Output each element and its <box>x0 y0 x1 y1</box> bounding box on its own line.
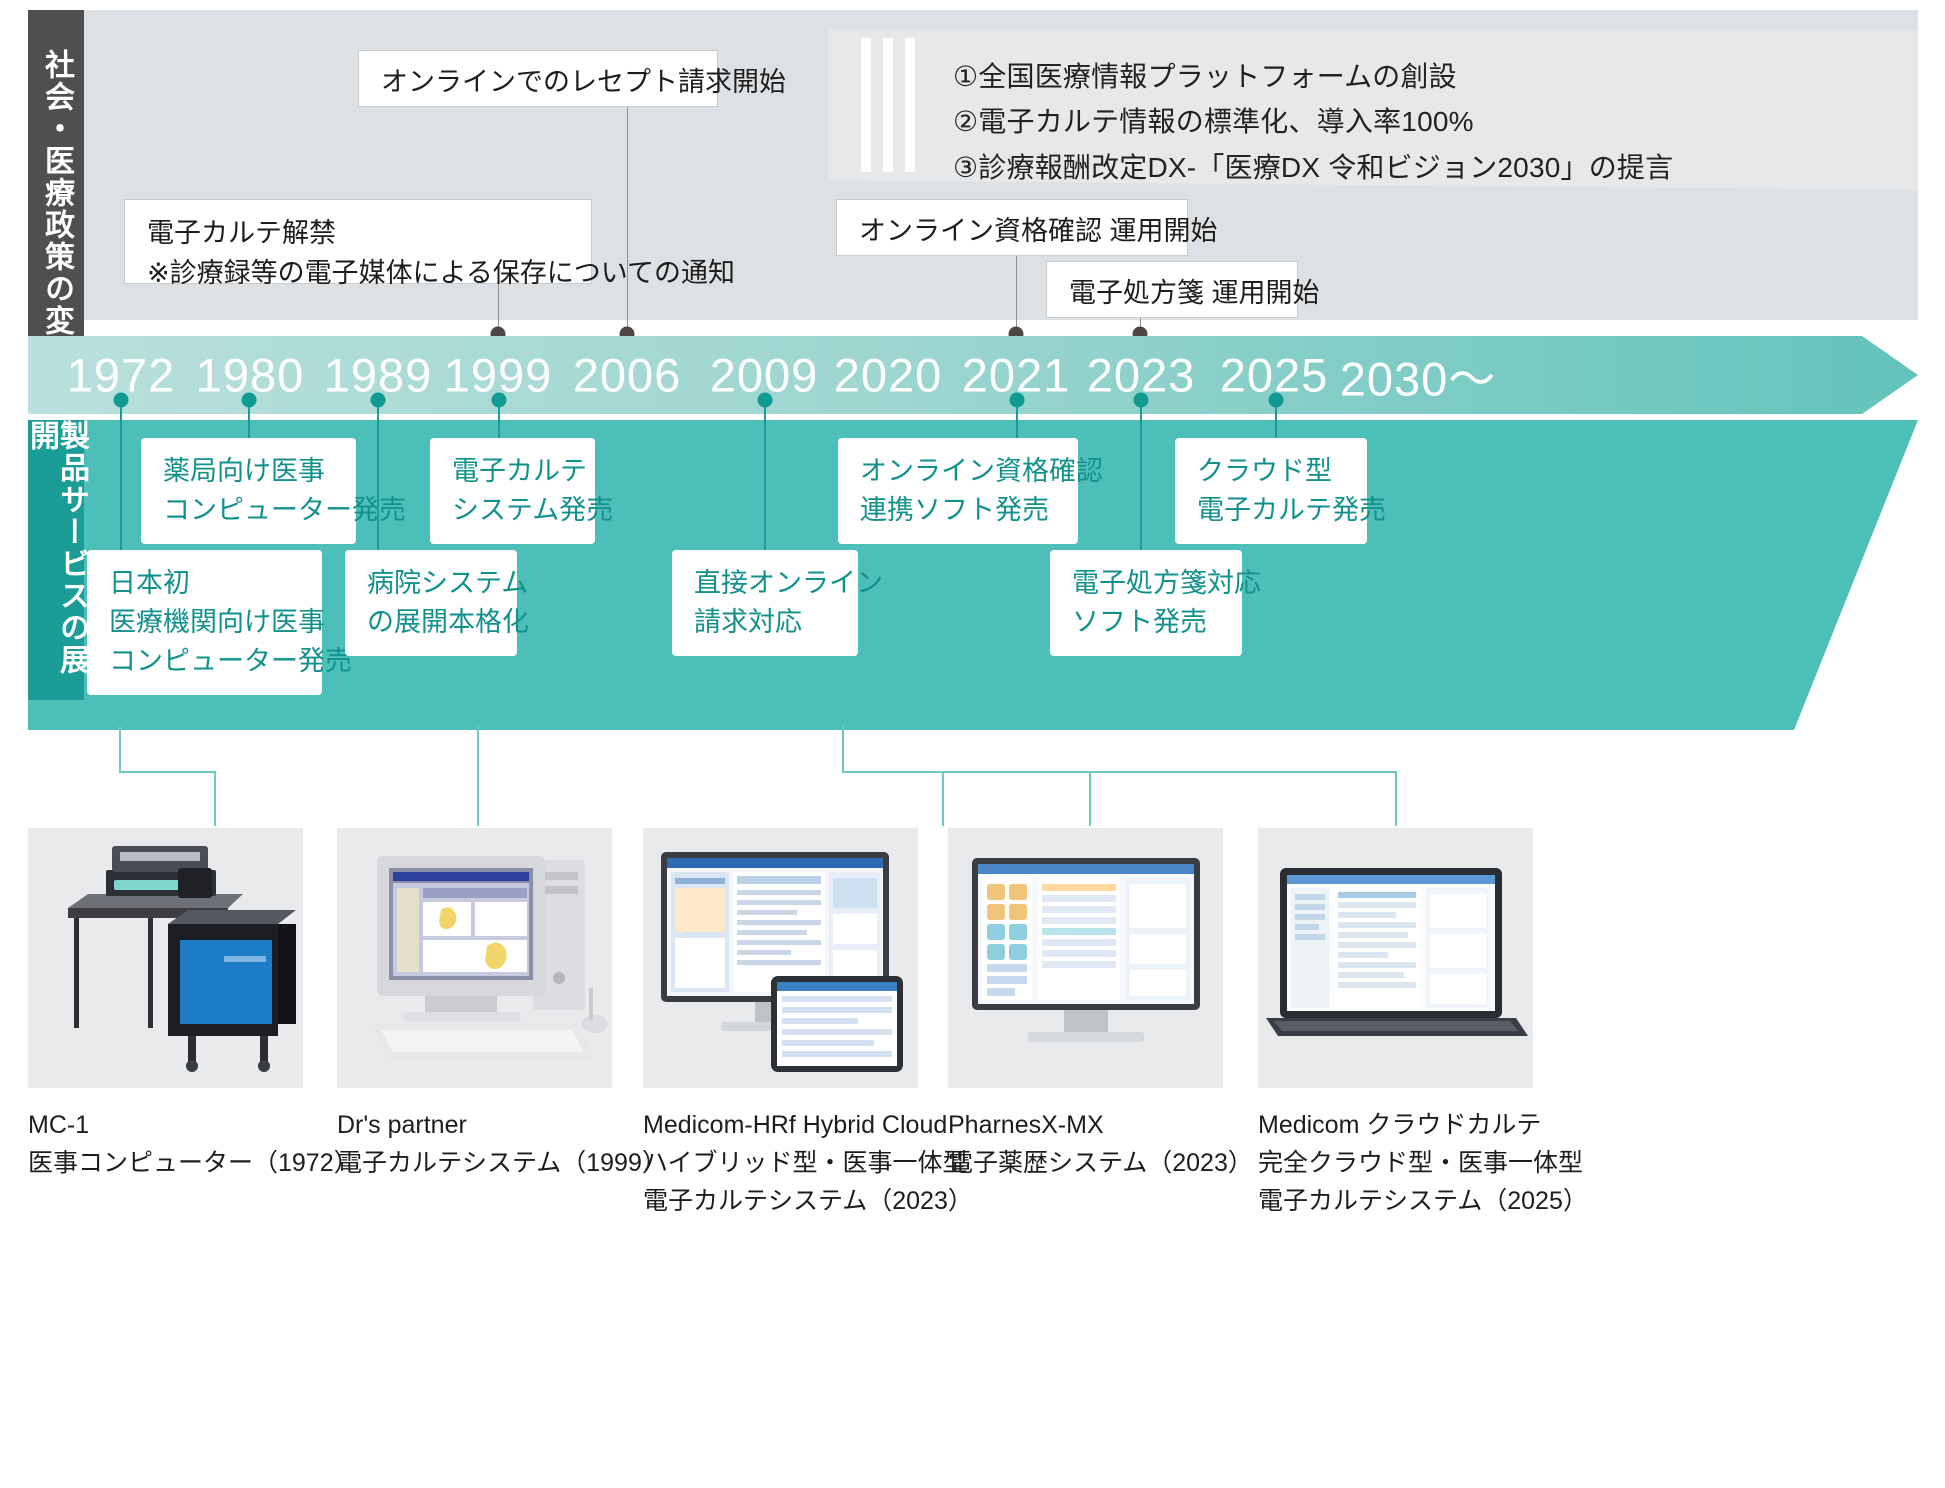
year-label-2020: 2020 <box>834 348 943 403</box>
policy-item-2: ②電子カルテ情報の標準化、導入率100% <box>953 99 1673 144</box>
product-callout-eprescription-soft-line-1: 電子処方箋対応 <box>1072 564 1220 603</box>
product-photo-drs-partner <box>337 828 612 1088</box>
product-photo-medicom-hrf <box>643 828 918 1088</box>
product-photo-row: MC-1 医事コンピューター（1972） <box>0 828 1945 1488</box>
product-callout-online-qualify-link: オンライン資格確認 連携ソフト発売 <box>838 438 1078 544</box>
product-card-medicom-hrf[interactable]: Medicom-HRf Hybrid Cloud ハイブリッド型・医事一体型 電… <box>643 828 918 1220</box>
product-caption-medicom-cloud: Medicom クラウドカルテ 完全クラウド型・医事一体型 電子カルテシステム（… <box>1258 1106 1533 1220</box>
policy-callout-eprescription-line-1: 電子処方箋 運用開始 <box>1069 278 1320 308</box>
connector-to-pharnesx <box>843 772 1090 826</box>
product-caption-drs-partner-line-2: 電子カルテシステム（1999） <box>337 1144 612 1182</box>
product-leader-2009 <box>764 404 766 550</box>
product-callout-japan-first-line-2: 医療機関向け医事 <box>109 603 300 642</box>
product-card-pharnesx-mx[interactable]: PharnesX-MX 電子薬歴システム（2023） <box>948 828 1223 1182</box>
policy-callout-emr-permitted-line-2: ※診療録等の電子媒体による保存についての通知 <box>147 254 569 294</box>
product-caption-mc-1: MC-1 医事コンピューター（1972） <box>28 1106 303 1182</box>
stripe-3 <box>905 38 915 172</box>
product-dot-1989 <box>371 393 386 408</box>
product-dot-2025 <box>1269 393 1284 408</box>
product-leader-2023 <box>1140 404 1142 550</box>
policy-item-1: ①全国医療情報プラットフォームの創設 <box>953 54 1673 99</box>
product-caption-pharnesx-mx-line-2: 電子薬歴システム（2023） <box>948 1144 1223 1182</box>
product-caption-mc-1-line-2: 医事コンピューター（1972） <box>28 1144 303 1182</box>
product-dot-1999 <box>492 393 507 408</box>
product-dot-2023 <box>1134 393 1149 408</box>
policy-callout-online-receipt-line-1: オンラインでのレセプト請求開始 <box>381 67 786 97</box>
year-label-2030: 2030〜 <box>1340 341 1497 410</box>
product-leader-2021 <box>1016 404 1018 438</box>
product-photo-pharnesx-mx <box>948 828 1223 1088</box>
policy-callout-emr-permitted-line-1: 電子カルテ解禁 <box>147 214 569 254</box>
product-caption-pharnesx-mx: PharnesX-MX 電子薬歴システム（2023） <box>948 1106 1223 1182</box>
photo-connector-lines <box>0 726 1945 836</box>
policy-item-list: ①全国医療情報プラットフォームの創設 ②電子カルテ情報の標準化、導入率100% … <box>953 54 1673 190</box>
product-dot-2009 <box>758 393 773 408</box>
product-caption-mc-1-line-1: MC-1 <box>28 1106 303 1144</box>
product-section-vertical-label: 製品サービスの展開 <box>28 420 84 700</box>
policy-item-3: ③診療報酬改定DX-「医療DX 令和ビジョン2030」の提言 <box>953 145 1673 190</box>
product-caption-medicom-cloud-line-3: 電子カルテシステム（2025） <box>1258 1182 1533 1220</box>
product-caption-medicom-cloud-line-1: Medicom クラウドカルテ <box>1258 1106 1533 1144</box>
product-photo-medicom-cloud <box>1258 828 1533 1088</box>
product-caption-medicom-cloud-line-2: 完全クラウド型・医事一体型 <box>1258 1144 1533 1182</box>
stripe-2 <box>883 38 893 172</box>
connector-to-mc-1 <box>120 726 215 826</box>
product-card-mc-1[interactable]: MC-1 医事コンピューター（1972） <box>28 828 303 1182</box>
product-callout-hospital-system: 病院システム の展開本格化 <box>345 550 517 656</box>
product-leader-1999 <box>498 404 500 438</box>
policy-callout-online-qualification: オンライン資格確認 運用開始 <box>836 199 1188 256</box>
product-caption-drs-partner: Dr's partner 電子カルテシステム（1999） <box>337 1106 612 1182</box>
product-callout-hospital-system-line-1: 病院システム <box>367 564 495 603</box>
leader-line-online-qualification <box>1016 256 1017 331</box>
policy-callout-online-qualification-line-1: オンライン資格確認 運用開始 <box>859 216 1218 246</box>
product-callout-eprescription-soft: 電子処方箋対応 ソフト発売 <box>1050 550 1242 656</box>
connector-to-medicom-cloud <box>1090 772 1396 826</box>
product-leader-1980 <box>248 404 250 438</box>
product-callout-direct-online-claim: 直接オンライン 請求対応 <box>672 550 858 656</box>
product-callout-emr-system-line-1: 電子カルテ <box>452 452 573 491</box>
stripe-1 <box>861 38 871 172</box>
product-callout-pharmacy-computer-line-2: コンピューター発売 <box>163 491 334 530</box>
product-callout-japan-first: 日本初 医療機関向け医事 コンピューター発売 <box>87 550 322 695</box>
product-callout-direct-online-claim-line-1: 直接オンライン <box>694 564 836 603</box>
product-caption-medicom-hrf-line-1: Medicom-HRf Hybrid Cloud <box>643 1106 918 1144</box>
product-callout-japan-first-line-1: 日本初 <box>109 564 300 603</box>
product-callout-online-qualify-link-line-2: 連携ソフト発売 <box>860 491 1056 530</box>
product-dot-2021 <box>1010 393 1025 408</box>
product-caption-pharnesx-mx-line-1: PharnesX-MX <box>948 1106 1223 1144</box>
product-callout-cloud-emr: クラウド型 電子カルテ発売 <box>1175 438 1367 544</box>
policy-callout-online-receipt: オンラインでのレセプト請求開始 <box>358 50 718 107</box>
product-caption-medicom-hrf-line-3: 電子カルテシステム（2023） <box>643 1182 918 1220</box>
product-photo-mc-1 <box>28 828 303 1088</box>
product-callout-cloud-emr-line-2: 電子カルテ発売 <box>1197 491 1345 530</box>
product-card-medicom-cloud[interactable]: Medicom クラウドカルテ 完全クラウド型・医事一体型 電子カルテシステム（… <box>1258 828 1533 1220</box>
product-card-drs-partner[interactable]: Dr's partner 電子カルテシステム（1999） <box>337 828 612 1182</box>
leader-line-emr-permitted <box>498 284 499 331</box>
policy-callout-eprescription: 電子処方箋 運用開始 <box>1046 261 1298 318</box>
product-caption-medicom-hrf: Medicom-HRf Hybrid Cloud ハイブリッド型・医事一体型 電… <box>643 1106 918 1220</box>
product-caption-drs-partner-line-1: Dr's partner <box>337 1106 612 1144</box>
leader-line-online-receipt <box>627 107 628 331</box>
product-leader-1989 <box>377 404 379 550</box>
product-callout-cloud-emr-line-1: クラウド型 <box>1197 452 1345 491</box>
product-caption-medicom-hrf-line-2: ハイブリッド型・医事一体型 <box>643 1144 918 1182</box>
policy-panel-stripes <box>861 38 915 172</box>
product-callout-hospital-system-line-2: の展開本格化 <box>367 603 495 642</box>
product-dot-1980 <box>242 393 257 408</box>
product-leader-1972 <box>120 404 122 564</box>
product-callout-eprescription-soft-line-2: ソフト発売 <box>1072 603 1220 642</box>
timeline-year-bar: 1972 1980 1989 1999 2006 2009 2020 2021 … <box>28 336 1918 414</box>
product-dot-1972 <box>114 393 129 408</box>
product-callout-emr-system-line-2: システム発売 <box>452 491 573 530</box>
product-callout-pharmacy-computer: 薬局向け医事 コンピューター発売 <box>141 438 356 544</box>
product-callout-online-qualify-link-line-1: オンライン資格確認 <box>860 452 1056 491</box>
product-callout-pharmacy-computer-line-1: 薬局向け医事 <box>163 452 334 491</box>
connector-to-medicom-hrf <box>843 726 943 826</box>
product-callout-direct-online-claim-line-2: 請求対応 <box>694 603 836 642</box>
product-callout-emr-system: 電子カルテ システム発売 <box>430 438 595 544</box>
product-leader-2025 <box>1275 404 1277 438</box>
year-label-2006: 2006 <box>573 348 682 403</box>
product-callout-japan-first-line-3: コンピューター発売 <box>109 642 300 681</box>
policy-callout-emr-permitted: 電子カルテ解禁 ※診療録等の電子媒体による保存についての通知 <box>124 199 592 284</box>
